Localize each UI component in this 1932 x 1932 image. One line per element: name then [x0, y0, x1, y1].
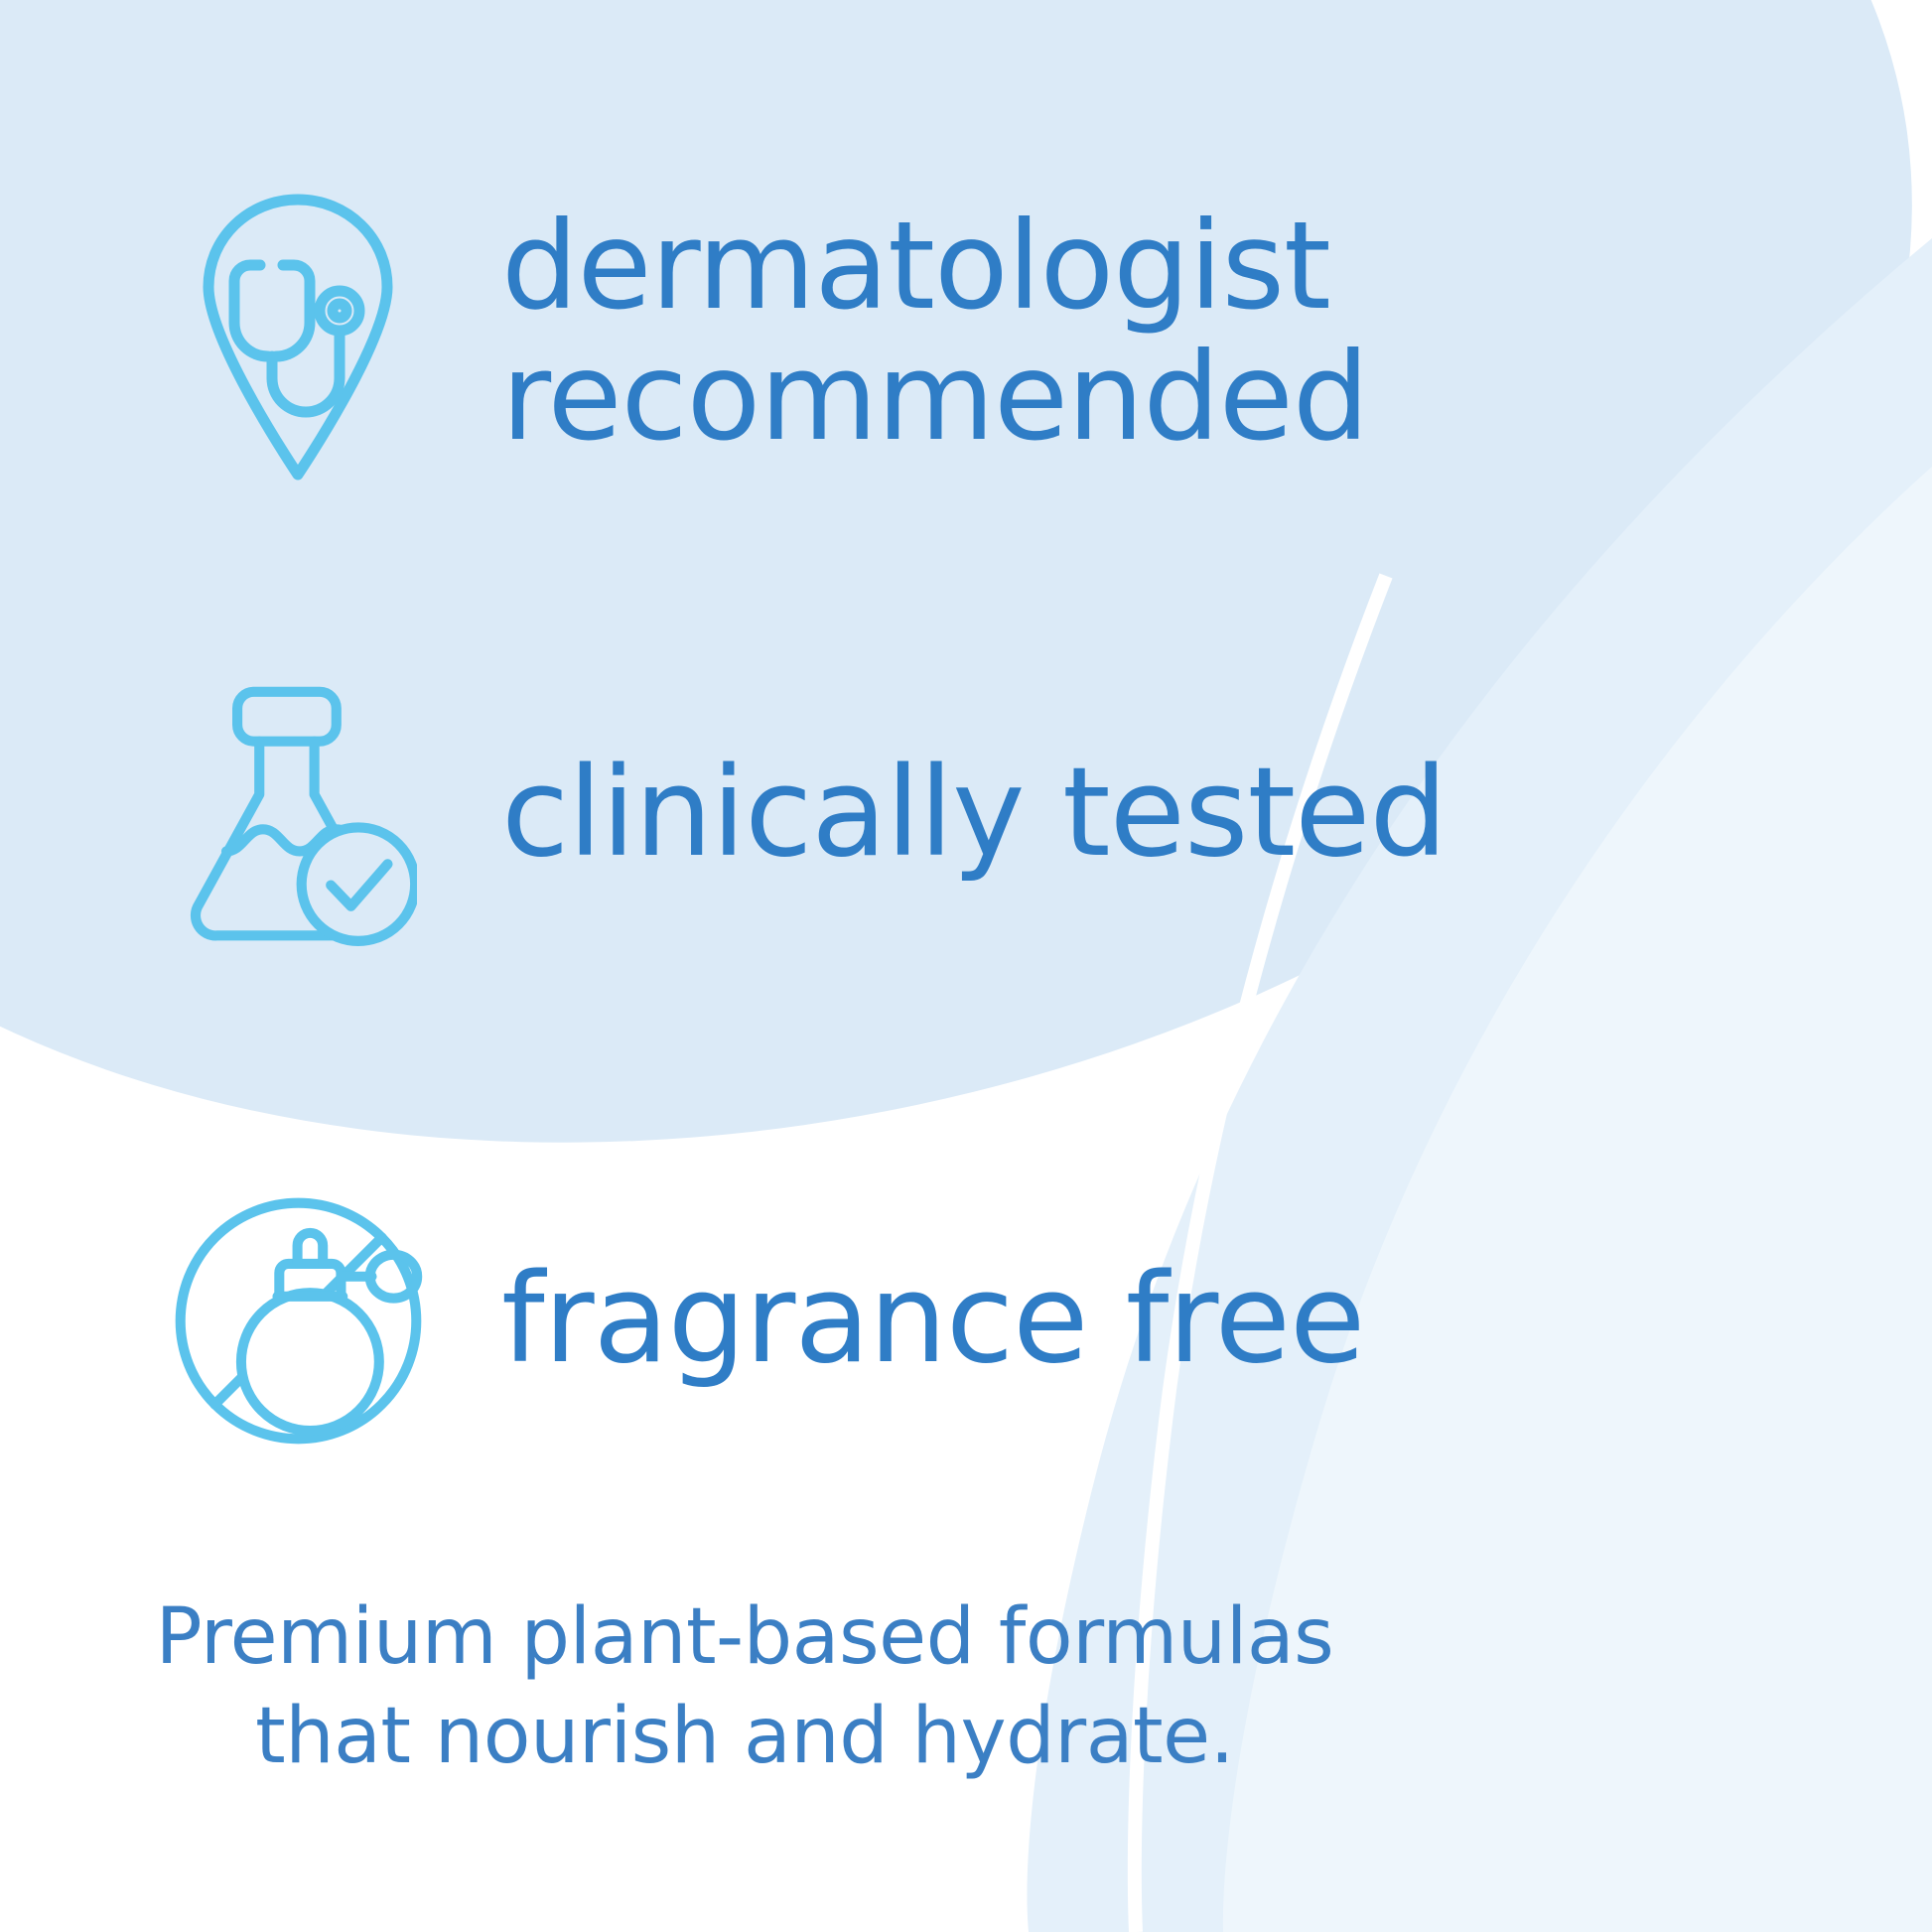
no-perfume-bottle-icon — [149, 1189, 447, 1452]
feature-label-fragrance-free: fragrance free — [501, 1254, 1364, 1387]
feature-label-dermatologist-recommended: dermatologist recommended — [501, 202, 1368, 464]
product-benefits-graphic: dermatologist recommended — [0, 0, 1932, 1932]
location-pin-stethoscope-icon — [149, 184, 447, 482]
feature-row-clinically-tested: clinically tested — [149, 650, 1837, 978]
feature-label-clinically-tested: clinically tested — [501, 748, 1447, 881]
tagline-text: Premium plant-based formulas that nouris… — [0, 1588, 1489, 1787]
feature-row-fragrance-free: fragrance free — [149, 1157, 1837, 1484]
feature-row-dermatologist-recommended: dermatologist recommended — [149, 169, 1837, 496]
flask-check-icon — [149, 677, 447, 952]
